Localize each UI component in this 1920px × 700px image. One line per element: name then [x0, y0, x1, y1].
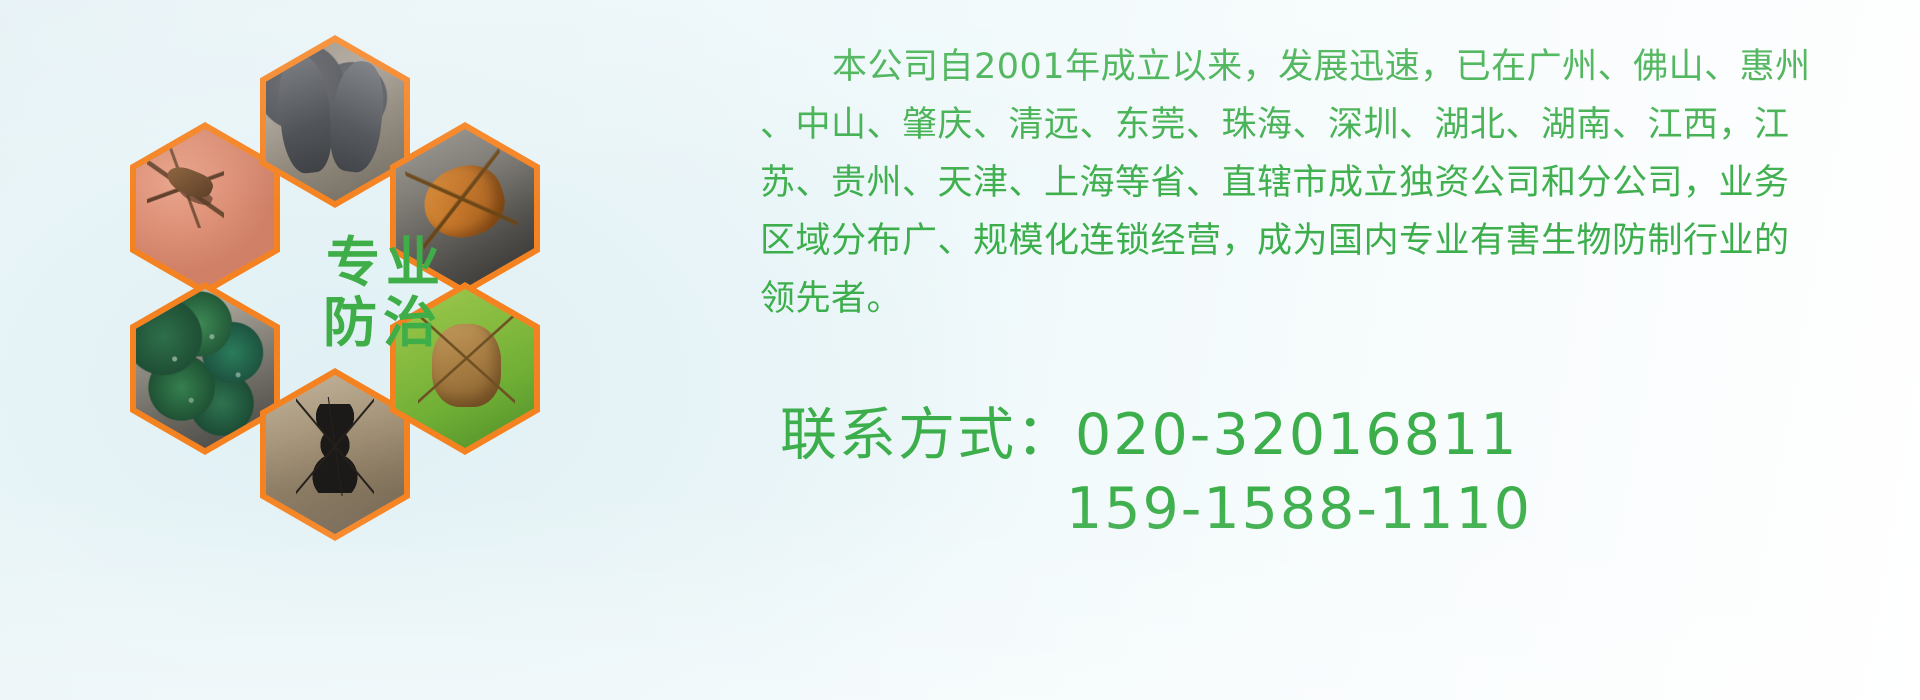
contact-block: 联系方式：020-32016811 159-1588-1110 [780, 398, 1900, 546]
intro-line-1: 本公司自2001年成立以来，发展迅速，已在广州、佛山、惠州 [760, 38, 1900, 96]
company-intro-paragraph: 本公司自2001年成立以来，发展迅速，已在广州、佛山、惠州 、中山、肇庆、清远、… [760, 38, 1900, 328]
intro-line-3: 苏、贵州、天津、上海等省、直辖市成立独资公司和分公司，业务 [760, 154, 1900, 212]
hex-badge-text: 专业 防治 [224, 233, 446, 354]
intro-line-4: 区域分布广、规模化连锁经营，成为国内专业有害生物防制行业的 [760, 212, 1900, 270]
hexagon-image-cluster: 专业 防治 [90, 10, 590, 570]
hex-badge-line1: 专业 [326, 231, 446, 294]
intro-line-5: 领先者。 [760, 270, 1900, 328]
intro-line-2: 、中山、肇庆、清远、东莞、珠海、深圳、湖北、湖南、江西，江 [760, 96, 1900, 154]
contact-phone-primary[interactable]: 联系方式：020-32016811 [780, 398, 1900, 472]
hex-badge-line2: 防治 [323, 291, 443, 354]
promo-banner: 专业 防治 本公司自2001年成立以来，发展迅速，已在广州、佛山、惠州 、中山、… [0, 0, 1920, 700]
contact-phone-secondary[interactable]: 159-1588-1110 [780, 472, 1900, 546]
content-column: 本公司自2001年成立以来，发展迅速，已在广州、佛山、惠州 、中山、肇庆、清远、… [760, 0, 1910, 700]
